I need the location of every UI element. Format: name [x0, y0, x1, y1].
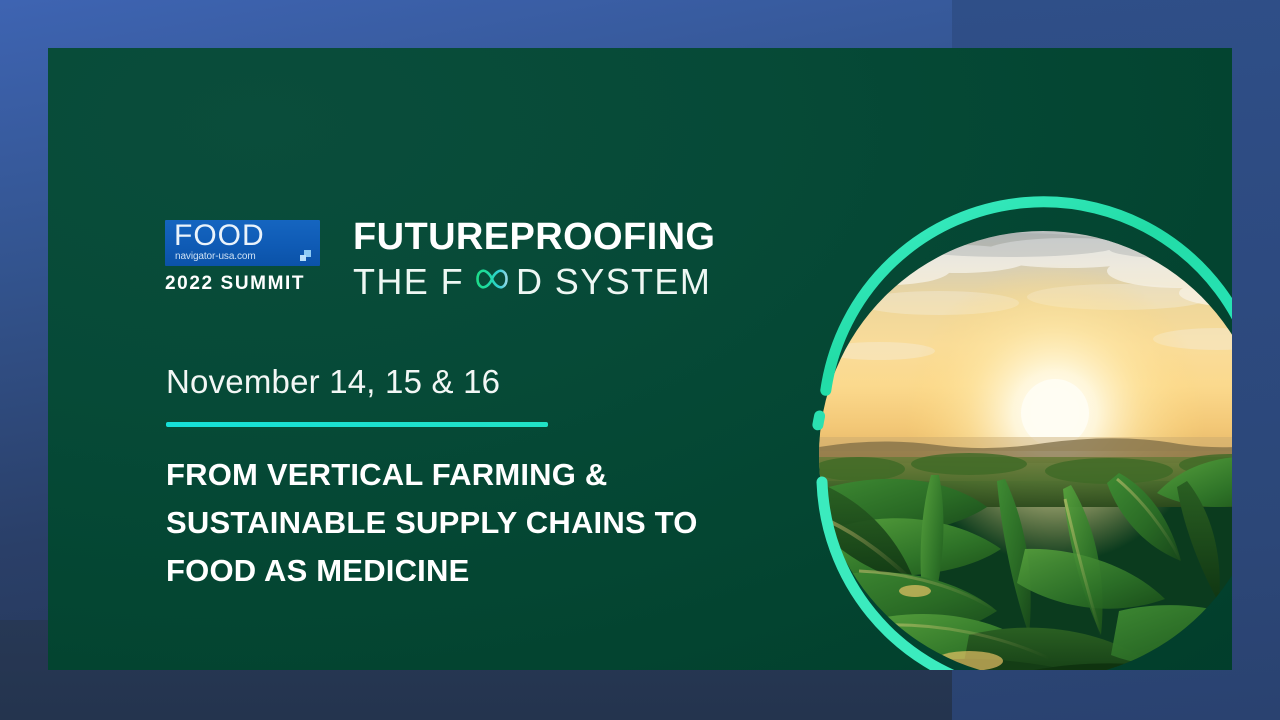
hero-photo — [819, 231, 1232, 670]
event-theme-line-3: FOOD AS MEDICINE — [166, 547, 806, 595]
event-lockup: FOOD navigator-usa.com 2022 SUMMIT FUTUR… — [165, 216, 715, 302]
event-theme-line-1: FROM VERTICAL FARMING & — [166, 451, 806, 499]
summit-year-label: 2022 SUMMIT — [165, 273, 325, 295]
infinity-icon — [465, 263, 515, 303]
accent-divider — [166, 422, 548, 427]
logo-wordmark: FOOD — [174, 220, 265, 252]
foodnavigator-logo[interactable]: FOOD navigator-usa.com 2022 SUMMIT — [165, 216, 325, 295]
cornfield-sunset-illustration — [819, 231, 1232, 670]
logo-badge: FOOD navigator-usa.com — [165, 220, 320, 266]
event-title: FUTUREPROOFING THE F — [353, 216, 715, 302]
event-title-line2: THE F — [353, 262, 715, 302]
event-dates: November 14, 15 & 16 — [166, 363, 500, 401]
event-theme-line-2: SUSTAINABLE SUPPLY CHAINS TO — [166, 499, 806, 547]
squares-mark-icon — [300, 250, 311, 261]
event-title-line1: FUTUREPROOFING — [353, 216, 715, 258]
event-title-line2-post: D SYSTEM — [516, 262, 711, 302]
hero-image-container — [808, 220, 1232, 670]
logo-domain: navigator-usa.com — [175, 251, 256, 262]
slide-canvas: FOOD navigator-usa.com 2022 SUMMIT FUTUR… — [0, 0, 1280, 720]
event-theme: FROM VERTICAL FARMING & SUSTAINABLE SUPP… — [166, 451, 806, 595]
event-title-line2-pre: THE F — [353, 262, 464, 302]
content-panel: FOOD navigator-usa.com 2022 SUMMIT FUTUR… — [48, 48, 1232, 670]
